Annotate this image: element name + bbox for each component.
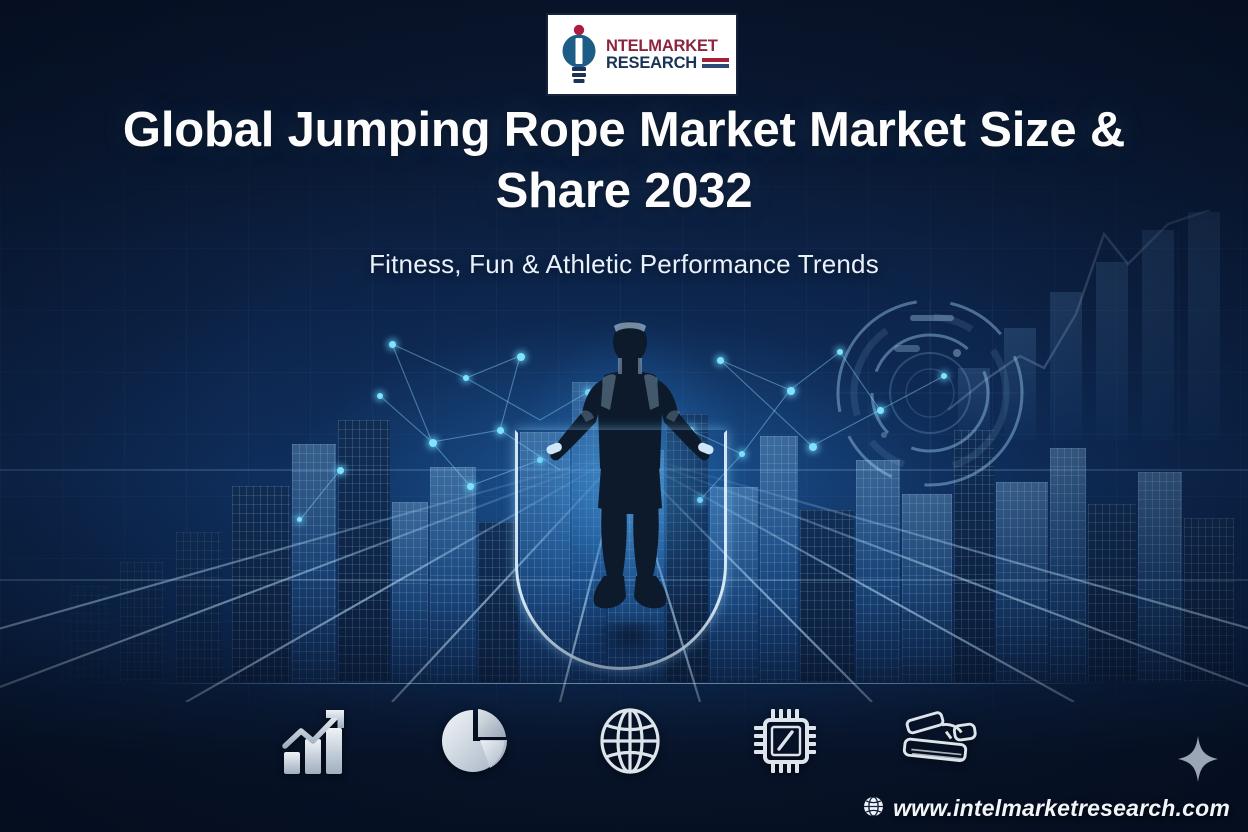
logo-wordmark: NTELMARKET RESEARCH bbox=[606, 38, 729, 71]
page-title: Global Jumping Rope Market Market Size &… bbox=[0, 100, 1248, 222]
athlete-reflection bbox=[578, 622, 682, 692]
banner-stage: NTELMARKET RESEARCH Global Jumping Rope … bbox=[0, 0, 1248, 832]
divider bbox=[150, 683, 1098, 684]
jump-rope-handles-icon bbox=[902, 702, 980, 780]
company-logo[interactable]: NTELMARKET RESEARCH bbox=[546, 13, 738, 96]
lightbulb-icon bbox=[556, 24, 602, 86]
logo-text-research: RESEARCH bbox=[606, 55, 697, 72]
url-text: www.intelmarketresearch.com bbox=[893, 795, 1230, 822]
pie-chart-icon bbox=[436, 702, 514, 780]
page-subtitle: Fitness, Fun & Athletic Performance Tren… bbox=[0, 249, 1248, 280]
logo-flag-bars bbox=[702, 58, 729, 69]
globe-icon bbox=[591, 702, 669, 780]
feature-icon-row bbox=[280, 700, 980, 782]
bar-chart-growth-icon bbox=[280, 702, 358, 780]
microchip-icon bbox=[747, 702, 825, 780]
logo-text-intelmarket: NTELMARKET bbox=[606, 38, 729, 55]
logo-bottom-row: RESEARCH bbox=[606, 55, 729, 72]
website-url[interactable]: www.intelmarketresearch.com bbox=[863, 795, 1230, 822]
globe-icon bbox=[863, 796, 884, 822]
sparkle-icon bbox=[1178, 736, 1218, 787]
